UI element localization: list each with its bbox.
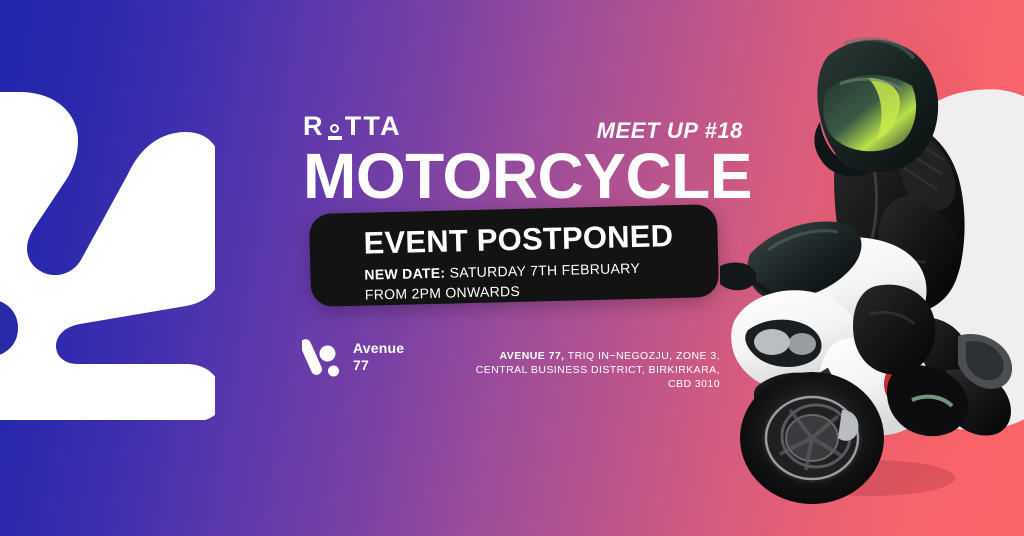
brand-o-icon — [327, 124, 343, 140]
banner-title: EVENT POSTPONED — [363, 218, 673, 262]
brand-wordmark: R TTA — [303, 112, 402, 142]
venue-address: AVENUE 77, TRIQ IN−NEGOZJU, ZONE 3, CENT… — [455, 349, 720, 391]
headline-block: R TTA MEET UP #18 MOTORCYCLE — [303, 112, 743, 207]
venue-name-line1: Avenue — [353, 340, 404, 357]
new-date-label: NEW DATE: — [364, 265, 445, 283]
rotta-logo-mark — [0, 88, 215, 420]
venue-branding: Avenue 77 — [302, 334, 404, 380]
venue-name: Avenue 77 — [353, 340, 404, 374]
page-title: MOTORCYCLE — [303, 145, 743, 207]
brand-letter-r: R — [303, 112, 325, 140]
venue-name-line2: 77 — [353, 357, 404, 374]
avenue-77-logo-icon — [302, 334, 344, 380]
address-line-2: CENTRAL BUSINESS DISTRICT, BIRKIRKARA, C… — [455, 363, 720, 391]
address-line-1: AVENUE 77, TRIQ IN−NEGOZJU, ZONE 3, — [455, 349, 720, 363]
address-venue-bold: AVENUE 77, — [500, 350, 565, 362]
brand-letters-tta: TTA — [345, 112, 402, 140]
banner-time-line: FROM 2PM ONWARDS — [365, 283, 521, 303]
postponed-banner: EVENT POSTPONED NEW DATE: SATURDAY 7TH F… — [309, 204, 719, 307]
motorcycle-rider-photo — [720, 18, 1024, 518]
address-street: TRIQ IN−NEGOZJU, ZONE 3, — [565, 350, 720, 362]
new-date-value: SATURDAY 7TH FEBRUARY — [449, 260, 640, 281]
poster-canvas: R TTA MEET UP #18 MOTORCYCLE EVENT POSTP… — [0, 0, 1024, 536]
brand-row: R TTA MEET UP #18 — [303, 112, 743, 142]
banner-new-date: NEW DATE: SATURDAY 7TH FEBRUARY — [364, 260, 640, 283]
